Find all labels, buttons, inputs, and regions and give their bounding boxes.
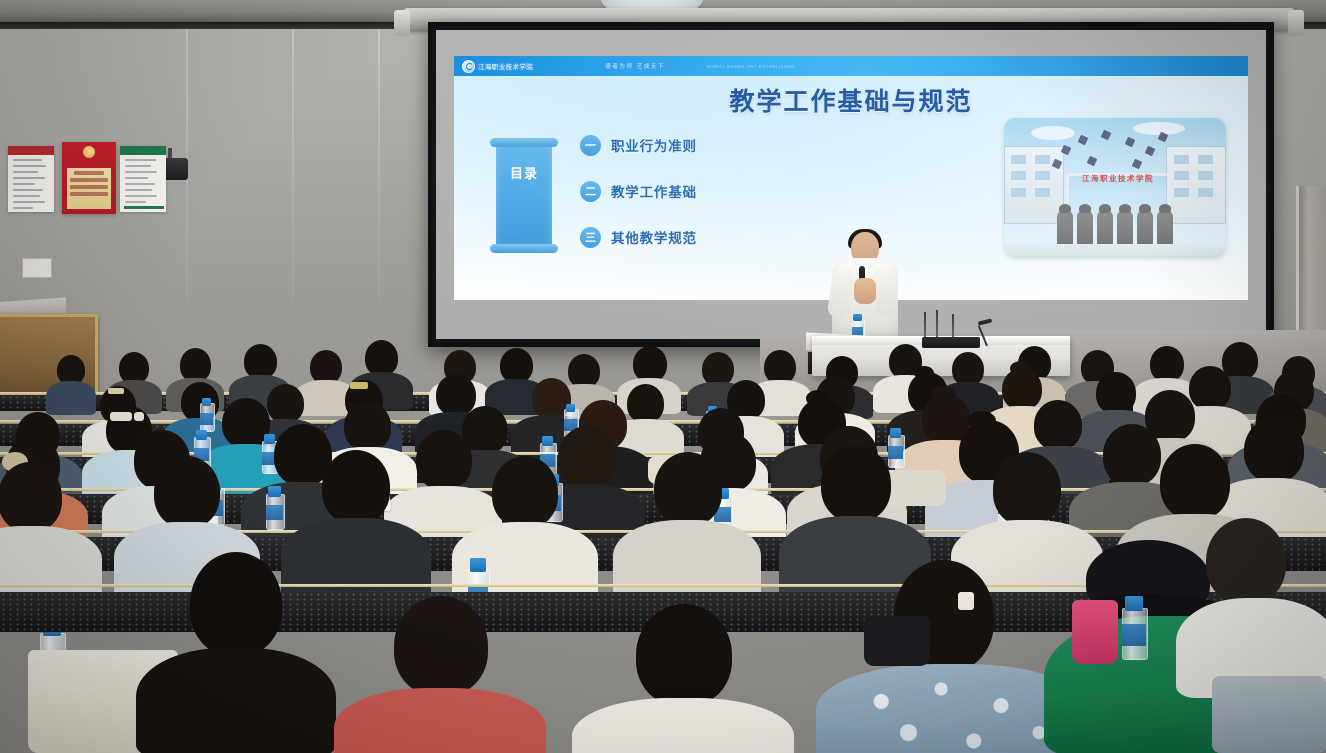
- emblem-icon: [83, 146, 95, 158]
- toc-item-1: 一 职业行为准则: [580, 122, 770, 168]
- audience-person: [0, 462, 90, 592]
- slide-motto-en: MORAL BASED ART ESTABLISHED: [707, 64, 795, 69]
- toc-item-3: 三 其他教学规范: [580, 214, 770, 260]
- scroll-rod-top: [490, 138, 558, 147]
- audience-person: [150, 552, 320, 753]
- notice-board-red: [62, 142, 116, 214]
- toc-number-2: 二: [580, 181, 601, 202]
- slide-table-of-contents: 一 职业行为准则 二 教学工作基础 三 其他教学规范: [580, 122, 770, 260]
- audience-person: [350, 596, 530, 753]
- water-bottle: [1122, 596, 1146, 660]
- hair-clip: [958, 592, 974, 610]
- wall-outlet-box: [22, 258, 52, 278]
- notice-board-left: [8, 146, 54, 212]
- notice-calendar-grid: [67, 168, 111, 209]
- audience-person: [588, 604, 778, 753]
- toc-item-2: 二 教学工作基础: [580, 168, 770, 214]
- toc-number-1: 一: [580, 135, 601, 156]
- toc-label-3: 其他教学规范: [611, 227, 697, 247]
- presenter-hands: [854, 278, 876, 304]
- scroll-body: [496, 142, 552, 248]
- audience-person: [624, 452, 750, 596]
- roller-endcap: [394, 10, 410, 36]
- university-emblem-icon: [462, 60, 475, 73]
- institution-name: 江海职业技术学院: [478, 61, 533, 71]
- toc-scroll-label: 目录: [490, 166, 558, 183]
- notice-text-lines: [120, 155, 166, 211]
- toc-number-3: 三: [580, 227, 601, 248]
- pink-pouch: [1072, 600, 1118, 664]
- wall-seam: [292, 0, 294, 430]
- wireless-antenna-icon: [936, 310, 938, 340]
- notice-header: [120, 146, 166, 155]
- photo-ground: [1004, 244, 1226, 258]
- scroll-rod-bottom: [490, 244, 558, 253]
- gate-sign-text: 江海职业技术学院: [1069, 173, 1167, 184]
- graduation-photo: 江海职业技术学院: [1004, 118, 1226, 258]
- backpack: [864, 616, 930, 666]
- toc-scroll-graphic: 目录: [490, 132, 558, 258]
- draped-jacket: [1212, 676, 1326, 753]
- lecture-hall-scene: 江海职业技术学院 德者为师 艺成天下 MORAL BASED ART ESTAB…: [0, 0, 1326, 753]
- wireless-antenna-icon: [924, 312, 926, 340]
- roller-endcap: [1288, 10, 1304, 36]
- slide-header-bar: 江海职业技术学院 德者为师 艺成天下 MORAL BASED ART ESTAB…: [454, 56, 1248, 76]
- audience-person: [1186, 518, 1326, 678]
- slide-title: 教学工作基础与规范: [454, 82, 1248, 118]
- notice-text-lines: [8, 155, 54, 217]
- toc-label-1: 职业行为准则: [611, 135, 697, 155]
- water-bottle: [266, 486, 283, 530]
- notice-board-green: [120, 146, 166, 212]
- slide-motto: 德者为师 艺成天下: [605, 62, 665, 70]
- toc-label-2: 教学工作基础: [611, 181, 697, 201]
- slide-logo: 江海职业技术学院: [462, 60, 533, 73]
- notice-header: [8, 146, 54, 155]
